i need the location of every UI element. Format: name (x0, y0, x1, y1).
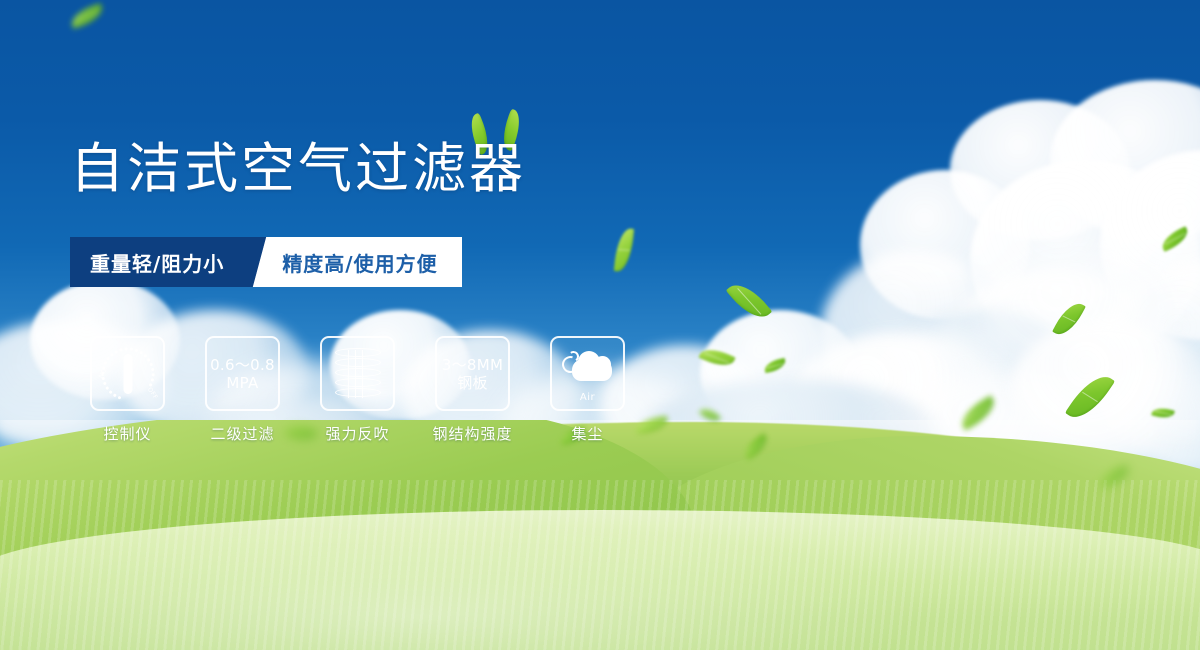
tagline-right: 精度高/使用方便 (276, 237, 461, 287)
feature-icon-box: 3～8MM 钢板 (435, 336, 510, 411)
filter-stack-icon (335, 346, 381, 402)
tagline-divider (246, 237, 276, 287)
feature-list: NO OFF 控制仪 0.6～0.8 MPA 二级过滤 (70, 336, 645, 444)
feature-label: 集尘 (571, 423, 603, 444)
gauge-needle-icon (123, 354, 132, 394)
gauge-label-off: OFF (146, 386, 159, 401)
feature-item-blowback[interactable]: 强力反吹 (300, 336, 415, 444)
pressure-unit-text: MPA (226, 374, 258, 392)
feature-icon-box: Air (550, 336, 625, 411)
gauge-icon: NO OFF (99, 346, 157, 402)
feature-icon-box (320, 336, 395, 411)
pressure-value-text: 0.6～0.8 (210, 356, 275, 374)
feature-item-controller[interactable]: NO OFF 控制仪 (70, 336, 185, 444)
air-cloud-icon: Air (560, 349, 616, 399)
page-title: 自洁式空气过滤器 (70, 142, 526, 196)
feature-item-dust-collection[interactable]: Air 集尘 (530, 336, 645, 444)
steel-plate-text: 钢板 (457, 374, 488, 392)
feature-item-filtration[interactable]: 0.6～0.8 MPA 二级过滤 (185, 336, 300, 444)
tagline-bar: 重量轻/阻力小 精度高/使用方便 (70, 237, 462, 287)
gauge-label-on: NO (97, 367, 108, 379)
tagline-left: 重量轻/阻力小 (70, 237, 246, 287)
feature-label: 控制仪 (103, 423, 151, 444)
banner-content: 自洁式空气过滤器 重量轻/阻力小 精度高/使用方便 (0, 0, 1200, 650)
feature-label: 二级过滤 (210, 423, 274, 444)
steel-thickness-text: 3～8MM (442, 356, 503, 374)
feature-icon-box: NO OFF (90, 336, 165, 411)
feature-item-steel[interactable]: 3～8MM 钢板 钢结构强度 (415, 336, 530, 444)
feature-label: 钢结构强度 (432, 423, 512, 444)
feature-label: 强力反吹 (325, 423, 389, 444)
feature-icon-box: 0.6～0.8 MPA (205, 336, 280, 411)
air-label: Air (560, 392, 616, 403)
product-hero-banner: 自洁式空气过滤器 重量轻/阻力小 精度高/使用方便 (0, 0, 1200, 650)
